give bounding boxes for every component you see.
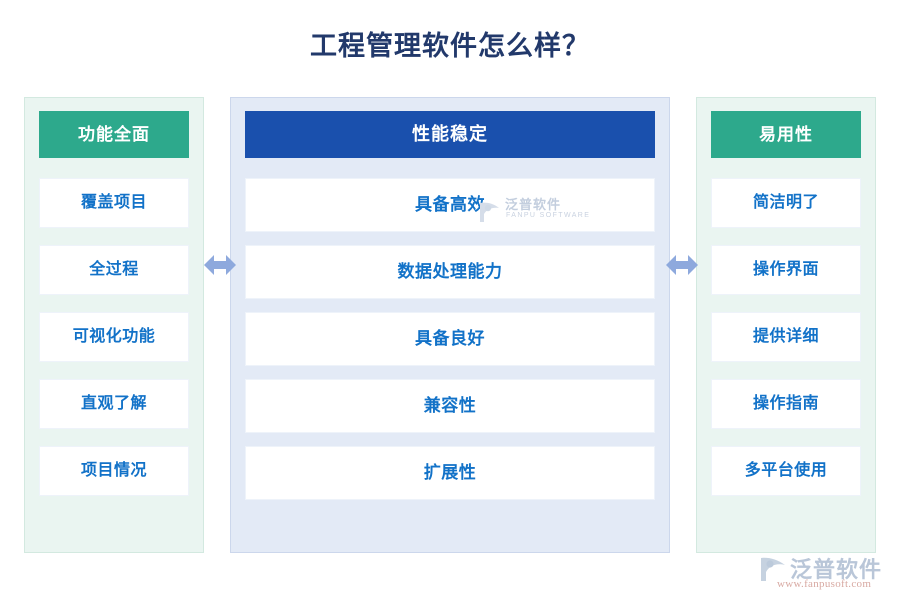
list-item[interactable]: 具备高效: [245, 178, 655, 232]
list-item[interactable]: 全过程: [39, 245, 189, 295]
column-center-header: 性能稳定: [245, 111, 655, 158]
list-item[interactable]: 简洁明了: [711, 178, 861, 228]
column-left-header: 功能全面: [39, 111, 189, 158]
list-item[interactable]: 覆盖项目: [39, 178, 189, 228]
list-item[interactable]: 扩展性: [245, 446, 655, 500]
list-item[interactable]: 项目情况: [39, 446, 189, 496]
list-item[interactable]: 操作界面: [711, 245, 861, 295]
comparison-board: 功能全面 覆盖项目 全过程 可视化功能 直观了解 项目情况 性能稳定 具备高效 …: [0, 97, 900, 553]
brand-logo: 泛普软件 www.fanpusoft.com: [758, 552, 896, 596]
list-item[interactable]: 具备良好: [245, 312, 655, 366]
list-item[interactable]: 数据处理能力: [245, 245, 655, 299]
brand-url: www.fanpusoft.com: [777, 578, 871, 590]
column-right-header: 易用性: [711, 111, 861, 158]
column-left-card-list: 覆盖项目 全过程 可视化功能 直观了解 项目情况: [39, 178, 189, 496]
list-item[interactable]: 操作指南: [711, 379, 861, 429]
page-title: 工程管理软件怎么样？: [0, 28, 900, 64]
list-item[interactable]: 多平台使用: [711, 446, 861, 496]
column-left: 功能全面 覆盖项目 全过程 可视化功能 直观了解 项目情况: [24, 97, 204, 553]
list-item[interactable]: 兼容性: [245, 379, 655, 433]
column-right-card-list: 简洁明了 操作界面 提供详细 操作指南 多平台使用: [711, 178, 861, 496]
double-arrow-horizontal-icon: [204, 249, 236, 281]
list-item[interactable]: 提供详细: [711, 312, 861, 362]
column-center: 性能稳定 具备高效 数据处理能力 具备良好 兼容性 扩展性: [230, 97, 670, 553]
column-right: 易用性 简洁明了 操作界面 提供详细 操作指南 多平台使用: [696, 97, 876, 553]
list-item[interactable]: 可视化功能: [39, 312, 189, 362]
double-arrow-horizontal-icon: [666, 249, 698, 281]
list-item[interactable]: 直观了解: [39, 379, 189, 429]
column-center-card-list: 具备高效 数据处理能力 具备良好 兼容性 扩展性: [245, 178, 655, 500]
